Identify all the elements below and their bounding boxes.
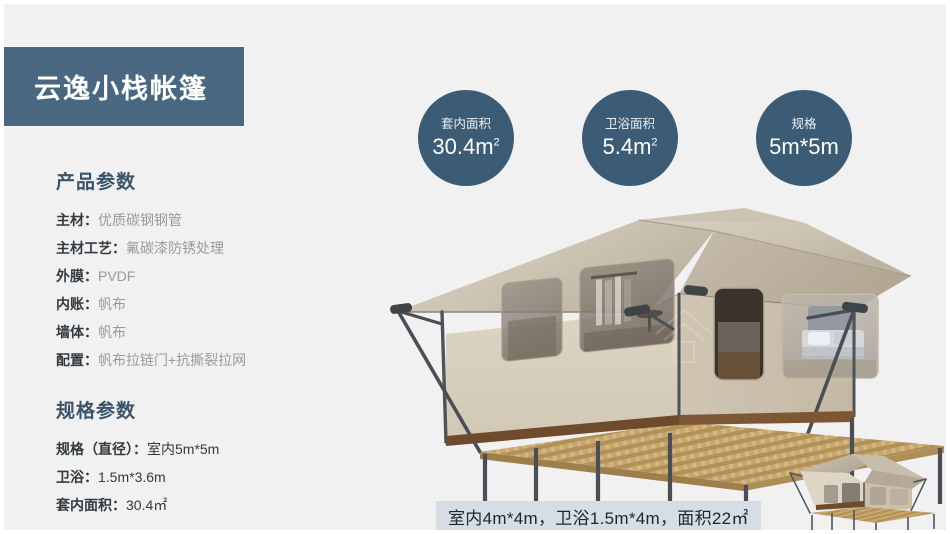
spec-row: 主材：优质碳钢钢管 [56,206,366,234]
spec-row: 卫浴：1.5m*3.6m [56,463,366,491]
badge-number: 5.4 [602,134,633,159]
badge-value: 5.4m2 [602,136,657,158]
spec-row: 规格（直径）：室内5m*5m [56,435,366,463]
badge-label: 卫浴面积 [605,118,655,131]
badge-specification: 规格 5m*5m [756,90,852,186]
product-spec-page: 云逸小栈帐篷 产品参数 主材：优质碳钢钢管 主材工艺：氟碳漆防锈处理 外膜：PV… [0,0,950,534]
spec-value: 优质碳钢钢管 [98,212,182,228]
badge-number: 5m*5m [769,134,839,159]
section-heading-product: 产品参数 [56,167,366,194]
badge-bathroom-area: 卫浴面积 5.4m2 [582,90,678,186]
spec-label: 套内面积： [56,497,126,513]
spec-row: 内账：帆布 [56,290,366,318]
spec-row: 套内面积：30.4㎡ [56,491,366,519]
spec-column: 产品参数 主材：优质碳钢钢管 主材工艺：氟碳漆防锈处理 外膜：PVDF 内账：帆… [56,167,366,534]
badge-interior-area: 套内面积 30.4m2 [418,90,514,186]
spec-value: 1.5m*3.6m [98,469,166,485]
caption-bar: 室内4m*4m，卫浴1.5m*4m，面积22㎡ [436,501,761,531]
badge-superscript: 2 [651,137,657,149]
badge-superscript: 2 [494,137,500,149]
spec-row: 配置：帆布拉链门+抗撕裂拉网 [56,346,366,374]
badge-unit: m [633,134,651,159]
spec-list-product: 主材：优质碳钢钢管 主材工艺：氟碳漆防锈处理 外膜：PVDF 内账：帆布 墙体：… [56,206,366,374]
spec-row: 外膜：PVDF [56,262,366,290]
badge-number: 30.4 [432,134,475,159]
title-banner: 云逸小栈帐篷 [4,47,244,126]
spec-label: 配置： [56,352,98,368]
spec-label: 主材： [56,212,98,228]
badge-value: 5m*5m [769,136,839,158]
caption-text: 室内4m*4m，卫浴1.5m*4m，面积22㎡ [448,504,749,529]
badge-label: 规格 [791,118,816,131]
spec-list-dimensions: 规格（直径）：室内5m*5m 卫浴：1.5m*3.6m 套内面积：30.4㎡ [56,435,366,519]
spec-label: 主材工艺： [56,240,126,256]
section-heading-dimensions: 规格参数 [56,396,366,423]
spec-row: 墙体：帆布 [56,318,366,346]
spec-value: 帆布 [98,324,126,340]
page-title: 云逸小栈帐篷 [34,67,208,106]
spec-label: 内账： [56,296,98,312]
spec-value: PVDF [98,268,135,284]
tent-thumbnail [776,447,948,534]
badge-value: 30.4m2 [432,136,499,158]
badge-unit: m [475,134,493,159]
spec-row: 主材工艺：氟碳漆防锈处理 [56,234,366,262]
spec-label: 卫浴： [56,469,98,485]
badge-label: 套内面积 [441,118,491,131]
spec-label: 墙体： [56,324,98,340]
spec-value: 氟碳漆防锈处理 [126,240,224,256]
spec-value: 帆布 [98,296,126,312]
spec-value: 室内5m*5m [147,441,219,457]
spec-label: 规格（直径）： [56,441,147,457]
spec-value: 30.4㎡ [126,497,167,513]
spec-label: 外膜： [56,268,98,284]
spec-value: 帆布拉链门+抗撕裂拉网 [98,352,246,368]
